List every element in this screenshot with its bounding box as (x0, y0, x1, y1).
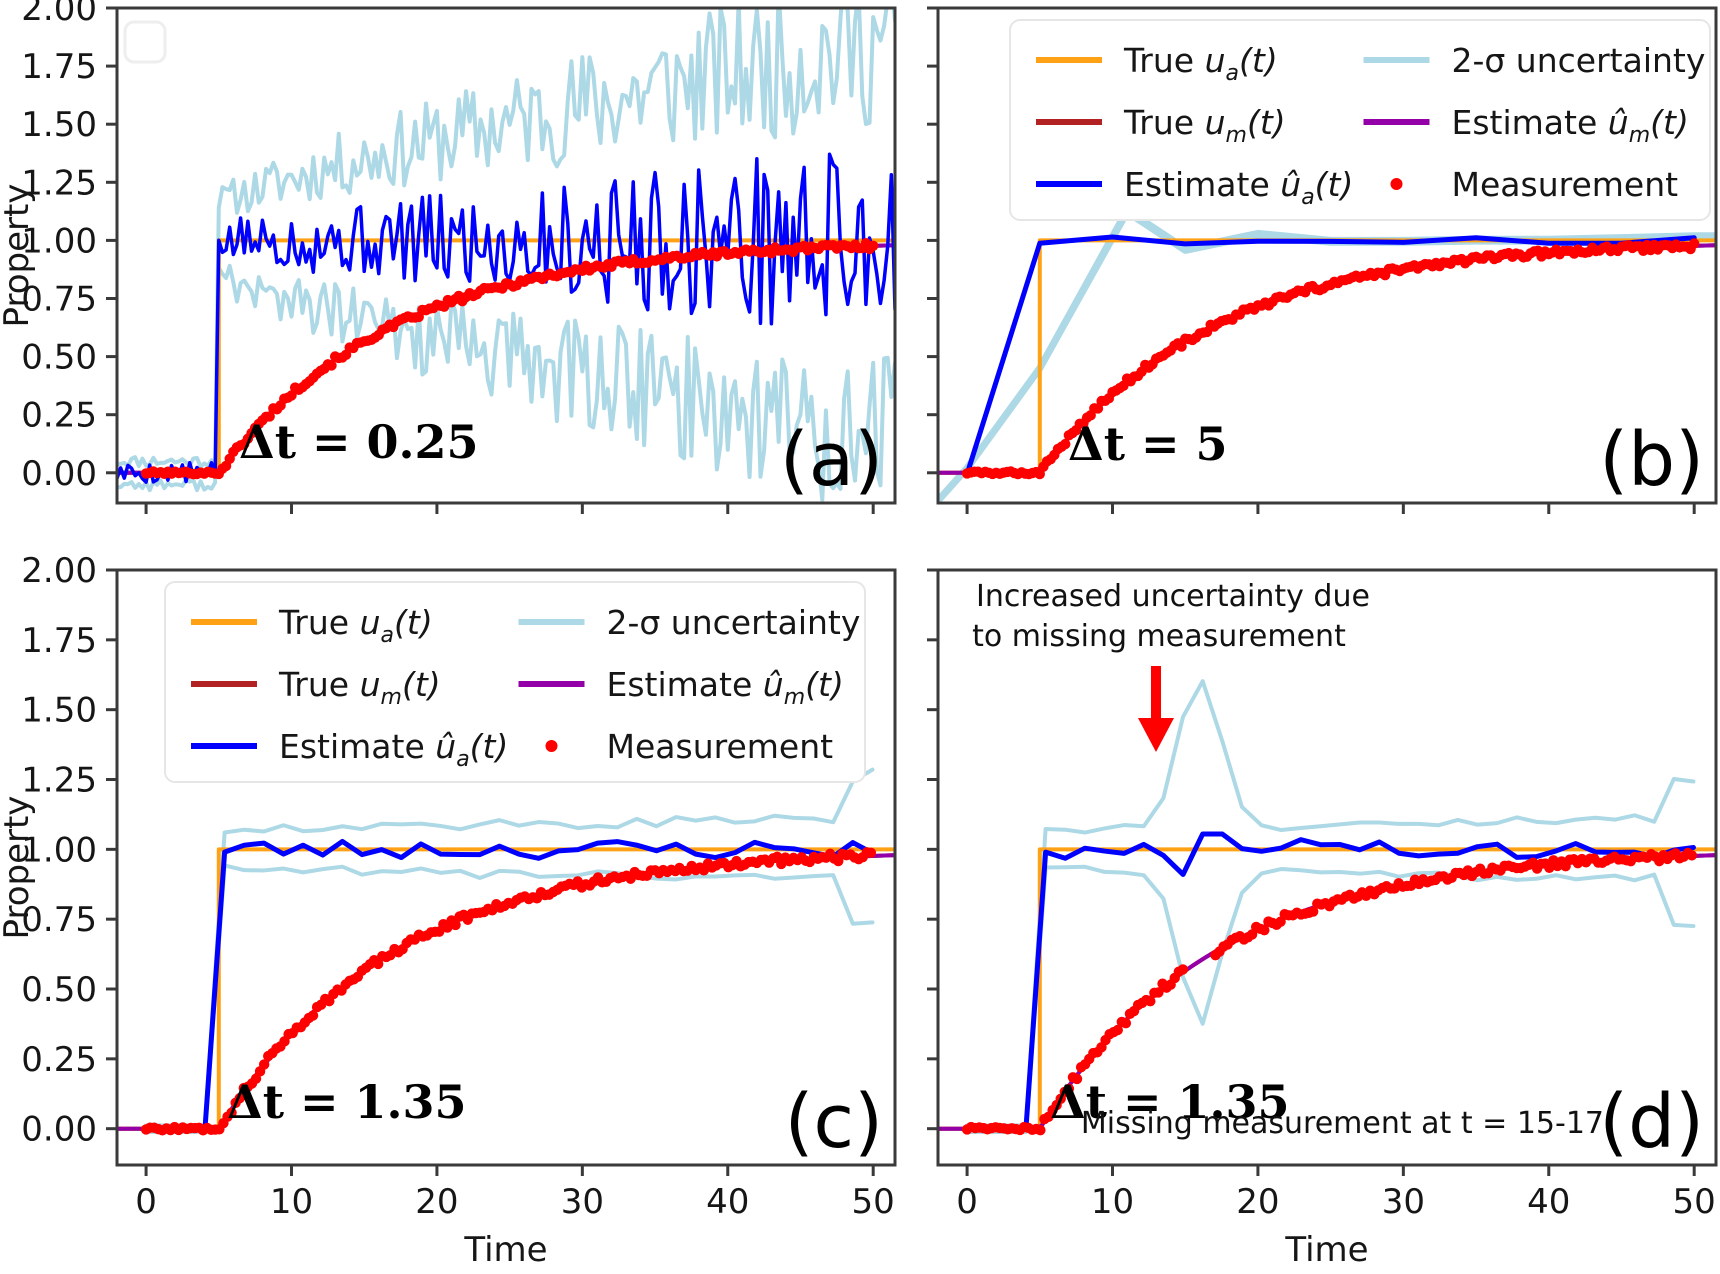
legend-empty-box (125, 22, 165, 62)
panel-letter-a: (a) (780, 417, 883, 503)
panel-letter-c: (c) (785, 1079, 883, 1165)
y-tick-label: 2.00 (21, 0, 97, 29)
y-axis-title-a: Property (0, 184, 37, 328)
legend-label: 2-σ uncertainty (607, 603, 861, 642)
x-tick-label: 0 (135, 1182, 157, 1222)
y-tick-label: 1.50 (21, 105, 97, 145)
legend-label: Measurement (607, 727, 834, 766)
legend-label: 2-σ uncertainty (1452, 41, 1706, 80)
uncertainty-lower-a (117, 266, 895, 500)
legend-label: Estimate ûa(t) (279, 727, 508, 772)
figure-root: 0.000.250.500.751.001.251.501.752.00Prop… (0, 0, 1720, 1270)
legend-swatch-dot (546, 740, 558, 752)
y-tick-label: 0.00 (21, 1110, 97, 1150)
x-tick-label: 40 (1527, 1182, 1570, 1222)
red-arrow-head (1138, 718, 1174, 752)
plot-area-d (938, 681, 1716, 1135)
annotation-line-2: to missing measurement (972, 619, 1346, 654)
x-axis-title-d: Time (1284, 1230, 1368, 1270)
y-tick-label: 1.25 (21, 761, 97, 801)
x-tick-label: 40 (706, 1182, 749, 1222)
x-tick-label: 50 (852, 1182, 895, 1222)
panel-a[interactable]: 0.000.250.500.751.001.251.501.752.00Prop… (0, 0, 895, 514)
x-tick-label: 20 (1236, 1182, 1279, 1222)
legend-panel-a-empty[interactable] (125, 22, 165, 62)
delta-t-label-a: Δt = 0.25 (239, 415, 479, 469)
y-tick-label: 1.50 (21, 691, 97, 731)
legend-panel-b[interactable]: True ua(t)2-σ uncertaintyTrue um(t)Estim… (1010, 20, 1710, 220)
x-tick-label: 20 (415, 1182, 458, 1222)
panel-letter-d: (d) (1599, 1079, 1704, 1165)
delta-t-label-b: Δt = 5 (1068, 417, 1228, 471)
uncertainty-upper-a (117, 0, 895, 467)
y-tick-label: 0.25 (21, 396, 97, 436)
panel-d[interactable]: 01020304050TimeΔt = 1.35(d) (927, 570, 1716, 1270)
footnote-missing-measurement: Missing measurement at t = 15-17 (1081, 1106, 1604, 1141)
y-axis-title-c: Property (0, 796, 37, 940)
legend-label: True um(t) (278, 665, 441, 710)
delta-t-label-c: Δt = 1.35 (227, 1075, 467, 1129)
legend-label: Measurement (1452, 165, 1679, 204)
legend-label: Estimate ûa(t) (1124, 165, 1353, 210)
panel-letter-b: (b) (1599, 417, 1704, 503)
legend-label: Estimate ûm(t) (607, 665, 844, 710)
y-tick-label: 1.75 (21, 621, 97, 661)
y-tick-label: 0.50 (21, 970, 97, 1010)
figure-canvas: 0.000.250.500.751.001.251.501.752.00Prop… (0, 0, 1720, 1270)
x-tick-label: 0 (956, 1182, 978, 1222)
y-tick-label: 0.25 (21, 1040, 97, 1080)
legend-panel-c[interactable]: True ua(t)2-σ uncertaintyTrue um(t)Estim… (165, 582, 865, 782)
x-tick-label: 10 (270, 1182, 313, 1222)
annotation-line-1: Increased uncertainty due (976, 579, 1370, 614)
x-axis-title-c: Time (463, 1230, 547, 1270)
legend-label: True um(t) (1123, 103, 1286, 148)
plot-area-a (117, 0, 895, 500)
y-tick-label: 2.00 (21, 551, 97, 591)
x-tick-label: 50 (1673, 1182, 1716, 1222)
y-tick-label: 0.50 (21, 338, 97, 378)
x-tick-label: 30 (1382, 1182, 1425, 1222)
legend-swatch-dot (1391, 178, 1403, 190)
y-tick-label: 1.75 (21, 47, 97, 87)
legend-label: True ua(t) (1123, 41, 1278, 86)
legend-label: Estimate ûm(t) (1452, 103, 1689, 148)
x-tick-label: 30 (561, 1182, 604, 1222)
y-tick-label: 0.00 (21, 454, 97, 494)
legend-label: True ua(t) (278, 603, 433, 648)
x-tick-label: 10 (1091, 1182, 1134, 1222)
